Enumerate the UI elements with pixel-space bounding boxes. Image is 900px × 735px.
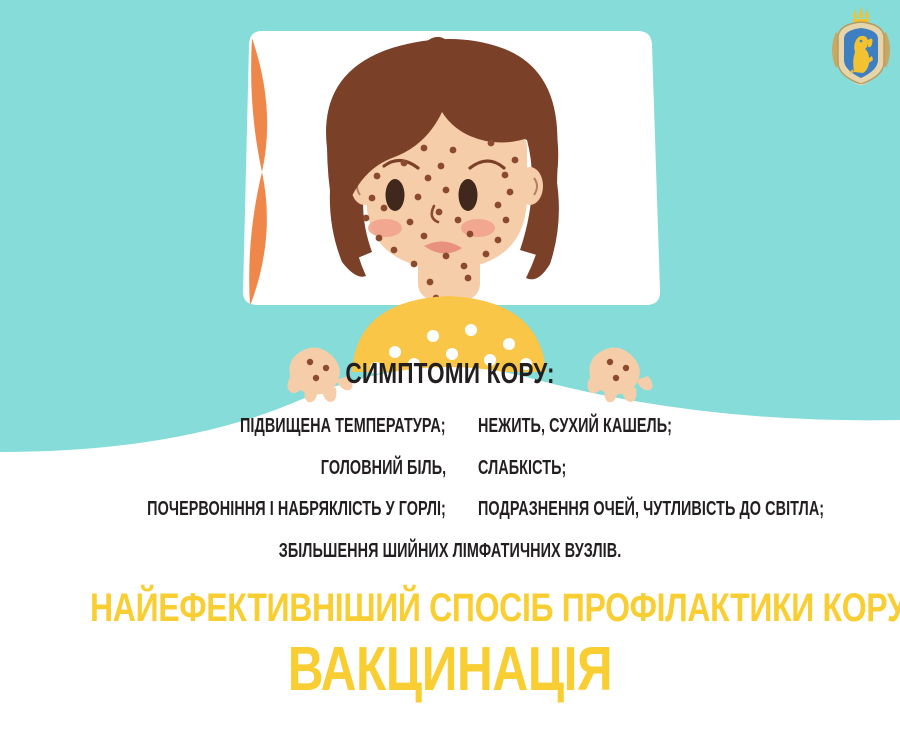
symptom-item: ПОЧЕРВОНІННЯ І НАБРЯКЛІСТЬ У ГОРЛІ; <box>147 498 446 521</box>
trident-icon <box>853 6 869 22</box>
measles-infographic-poster: СИМПТОМИ КОРУ: ПІДВИЩЕНА ТЕМПЕРАТУРА; НЕ… <box>0 0 900 735</box>
symptom-item: НЕЖИТЬ, СУХИЙ КАШЕЛЬ; <box>478 415 672 438</box>
call-to-action-line-2: ВАКЦИНАЦІЯ <box>90 634 810 705</box>
symptoms-title: СИМПТОМИ КОРУ: <box>99 358 801 391</box>
symptom-row: ГОЛОВНИЙ БІЛЬ, СЛАБКІСТЬ; <box>0 457 900 483</box>
symptom-item: СЛАБКІСТЬ; <box>478 457 566 480</box>
call-to-action-line-1: НАЙЕФЕКТИВНІШИЙ СПОСІБ ПРОФІЛАКТИКИ КОРУ… <box>90 586 810 631</box>
symptom-row: ПОЧЕРВОНІННЯ І НАБРЯКЛІСТЬ У ГОРЛІ; ПОДР… <box>0 498 900 524</box>
lviv-oblast-coat-of-arms-icon <box>828 2 894 88</box>
symptom-item: ПОДРАЗНЕННЯ ОЧЕЙ, ЧУТЛИВІСТЬ ДО СВІТЛА; <box>478 498 824 521</box>
symptom-row: ПІДВИЩЕНА ТЕМПЕРАТУРА; НЕЖИТЬ, СУХИЙ КАШ… <box>0 415 900 441</box>
symptom-item: ПІДВИЩЕНА ТЕМПЕРАТУРА; <box>240 415 446 438</box>
symptom-item: ЗБІЛЬШЕННЯ ШИЙНИХ ЛІМФАТИЧНИХ ВУЗЛІВ. <box>279 540 622 563</box>
symptom-row-final: ЗБІЛЬШЕННЯ ШИЙНИХ ЛІМФАТИЧНИХ ВУЗЛІВ. <box>0 540 900 566</box>
symptom-item: ГОЛОВНИЙ БІЛЬ, <box>321 457 446 480</box>
coat-of-arms <box>828 2 894 88</box>
text-layer: СИМПТОМИ КОРУ: ПІДВИЩЕНА ТЕМПЕРАТУРА; НЕ… <box>0 0 900 735</box>
